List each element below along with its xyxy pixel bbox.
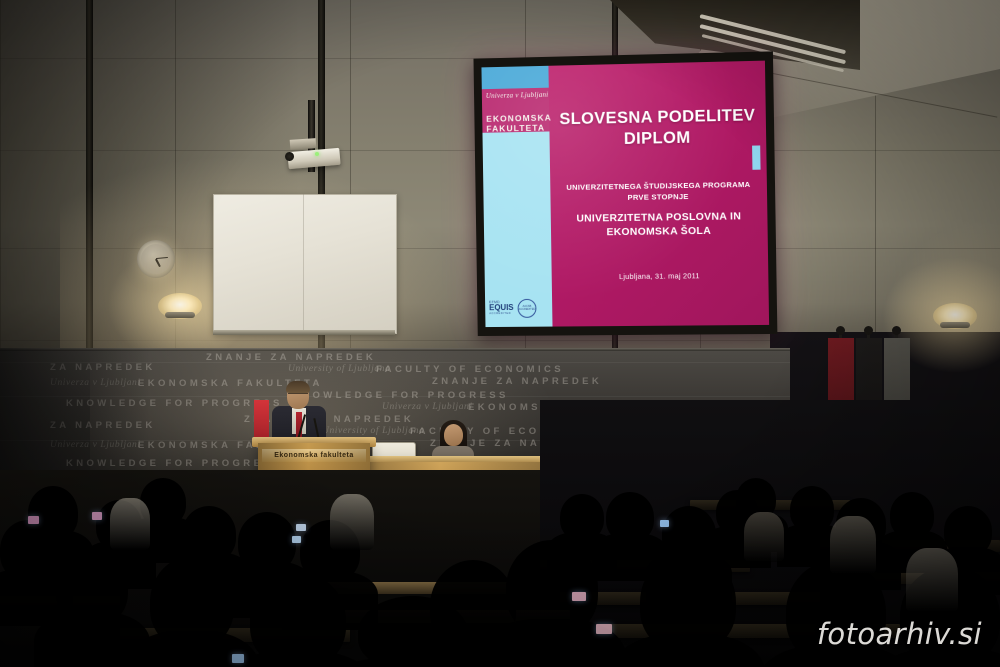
backdrop-text: Univerza v Ljubljani [382,402,473,412]
slide-program: UNIVERZITETNA POSLOVNA IN EKONOMSKA ŠOLA [559,210,760,241]
slide-program-line1: UNIVERZITETNA POSLOVNA IN [559,210,760,227]
slide-sidebar-top-band [481,66,548,89]
slide-subtitle: UNIVERZITETNEGA ŠTUDIJSKEGA PROGRAMA PRV… [558,180,759,204]
audience-person-lit [830,516,876,574]
seated-woman-head [444,424,463,446]
photograph-scene: Univerza v Ljubljani EKONOMSKA FAKULTETA… [0,0,1000,667]
phone-screen [292,536,301,543]
whiteboard [213,194,397,334]
whiteboard-tray [213,330,395,335]
audience-person-lit [110,498,150,550]
flag-dark-finial [864,326,873,335]
backdrop-text: ZNANJE ZA NAPREDEK [244,414,414,425]
backdrop-text: FACULTY OF ECONOMICS [376,364,564,375]
slide-title: SLOVESNA PODELITEV DIPLOM [557,105,758,151]
aacsb-line2: ACCREDITED [519,308,536,311]
phone-screen [660,520,669,527]
audience-person-lit [330,494,374,550]
accreditation-logos: EFMD EQUIS ACCREDITED AACSB ACCREDITED [489,295,550,321]
slide-date: Ljubljana, 31. maj 2011 [560,271,761,282]
phone-screen [296,524,306,531]
flag-red-finial [836,326,845,335]
projector-led-icon [315,152,319,156]
audience-person-lit [906,548,958,612]
equis-logo: EFMD EQUIS ACCREDITED [489,301,514,315]
phone-screen [596,624,612,634]
slide-title-line2: DIPLOM [557,126,758,151]
phone-screen [92,512,102,520]
logo-faculty-text: EKONOMSKA FAKULTETA [486,113,547,134]
photo-watermark: fotoarhiv.si [817,617,982,651]
logo-university-text: Univerza v Ljubljani [486,91,547,100]
whiteboard-seam [303,194,304,332]
sconce-base-right [940,322,970,328]
wall-seam-vertical [0,0,1,352]
projector-mount [290,138,317,150]
backdrop-text: KNOWLEDGE FOR PROGRESS [292,390,509,401]
speaker-hair [286,381,310,393]
faculty-logo-block: Univerza v Ljubljani EKONOMSKA FAKULTETA [482,88,550,133]
speaker-glasses [288,393,308,398]
phone-screen [232,654,244,663]
equis-bottom-text: ACCREDITED [489,312,511,315]
projection-screen: Univerza v Ljubljani EKONOMSKA FAKULTETA… [473,51,777,336]
backdrop-text: ZNANJE ZA NAPREDEK [206,352,376,363]
phone-screen [572,592,586,601]
flag-light-finial [892,326,901,335]
slide-content: SLOVESNA PODELITEV DIPLOM UNIVERZITETNEG… [548,61,769,327]
presentation-slide: Univerza v Ljubljani EKONOMSKA FAKULTETA… [481,61,769,327]
slide-program-line2: EKONOMSKA ŠOLA [559,224,760,241]
audience-person-lit [744,512,784,562]
aacsb-logo: AACSB ACCREDITED [517,298,536,317]
sconce-base-left [165,312,195,318]
logo-faculty-line2: FAKULTETA [486,123,547,134]
backdrop-text: ZNANJE ZA NAPREDEK [432,376,602,387]
phone-screen [28,516,39,524]
slide-title-line1: SLOVESNA PODELITEV [557,105,758,130]
